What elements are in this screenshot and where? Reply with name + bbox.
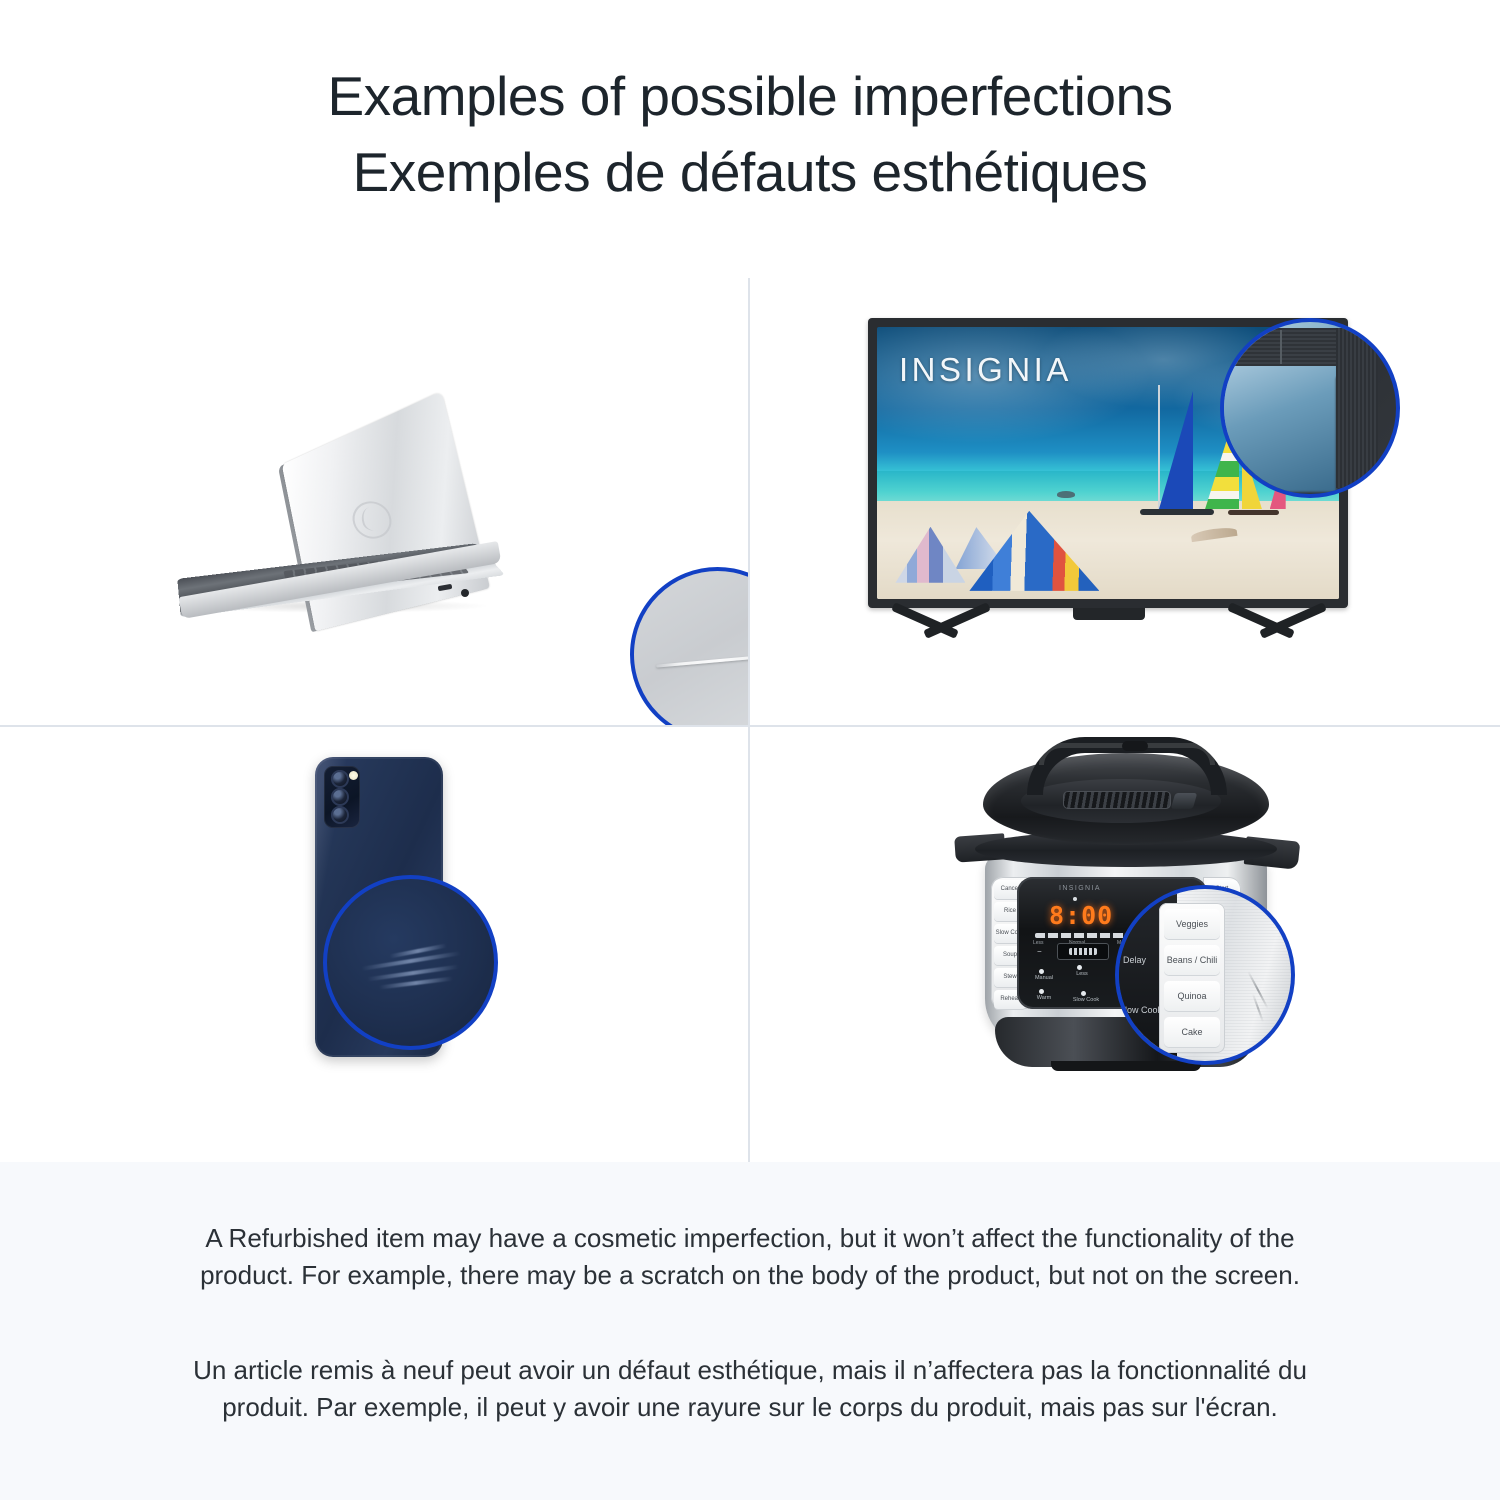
- camera-lens-icon-2: [331, 788, 349, 806]
- camera-lens-icon-3: [331, 806, 349, 824]
- cooker-magnified-button-beans-chili[interactable]: Beans / Chili: [1164, 945, 1220, 975]
- phone-scratch-mark-3: [379, 977, 453, 990]
- cooker-feet: [1051, 1061, 1201, 1071]
- cooker-led-slowcook: [1081, 991, 1086, 996]
- camera-flash-icon: [349, 771, 358, 780]
- cooker-control-slow-cook[interactable]: Slow Cook: [1071, 997, 1101, 1003]
- refurbished-imperfections-infographic: Examples of possible imperfections Exemp…: [0, 0, 1500, 1500]
- tv-center-badge: [1073, 608, 1145, 620]
- tv-magnified-screen-area: [1220, 364, 1336, 492]
- cooker-magnified-button-veggies[interactable]: Veggies: [1164, 909, 1220, 939]
- laptop-scratch-mark: [656, 653, 748, 667]
- example-cell-laptop: [0, 278, 748, 725]
- cooker-label-less: Less: [1033, 940, 1044, 946]
- cooker-led-warm2: [1039, 989, 1044, 994]
- camera-lens-icon-1: [331, 770, 349, 788]
- title-line-english: Examples of possible imperfections: [0, 58, 1500, 134]
- cooker-magnified-button-quinoa[interactable]: Quinoa: [1164, 981, 1220, 1011]
- cooker-magnified-button-cake[interactable]: Cake: [1164, 1017, 1220, 1047]
- circle-magnifier-phone: [323, 875, 498, 1050]
- cooker-control-warm[interactable]: Warm: [1029, 995, 1059, 1001]
- laptop-illustration: [170, 373, 550, 643]
- tv-scene-hull-left: [1140, 509, 1214, 515]
- cooker-magnified-label-slow-cook: Slow Cook: [1119, 1005, 1162, 1015]
- smartphone-illustration: [245, 747, 505, 1147]
- cooker-led-warm: [1077, 965, 1082, 970]
- footer-disclaimer: A Refurbished item may have a cosmetic i…: [0, 1162, 1500, 1500]
- circle-magnifier-cooker: Delay Slow Cook Veggies Beans / Chili Qu…: [1115, 885, 1295, 1065]
- examples-grid: INSIGNIA: [0, 278, 1500, 1162]
- disclaimer-paragraph-french: Un article remis à neuf peut avoir un dé…: [180, 1352, 1320, 1426]
- tv-scene-blue-sail: [1154, 391, 1193, 509]
- television-illustration: INSIGNIA: [868, 318, 1368, 678]
- cooker-brand-label: INSIGNIA: [1059, 885, 1101, 892]
- cooker-selection-window: [1057, 943, 1109, 960]
- phone-camera-module: [324, 766, 360, 828]
- title-line-french: Exemples de défauts esthétiques: [0, 134, 1500, 210]
- example-cell-smartphone: [0, 727, 748, 1162]
- laptop-round-port-icon: [461, 589, 469, 597]
- tv-scene-beach: [877, 501, 1339, 599]
- cooker-pressure-valve-icon: [1171, 793, 1198, 809]
- cooker-time-display: 8:00: [1049, 903, 1123, 929]
- cooker-magnified-button-column: Veggies Beans / Chili Quinoa Cake: [1159, 903, 1225, 1053]
- cooker-magnified-label-delay: Delay: [1123, 955, 1146, 965]
- circle-magnifier-laptop: [630, 567, 748, 725]
- tv-magnified-side-bezel: [1336, 328, 1378, 488]
- tv-bezel-seam-mark: [1280, 330, 1282, 364]
- example-cell-television: INSIGNIA: [750, 278, 1500, 725]
- disclaimer-paragraph-english: A Refurbished item may have a cosmetic i…: [180, 1220, 1320, 1294]
- cooker-decrease-button[interactable]: −: [1037, 947, 1042, 956]
- pressure-cooker-illustration: Cancel Rice Slow Cook Soup Stew Reheat S…: [955, 735, 1315, 1135]
- cooker-led-manual: [1039, 969, 1044, 974]
- page-title: Examples of possible imperfections Exemp…: [0, 58, 1500, 210]
- circle-magnifier-tv: [1220, 318, 1400, 498]
- tv-screen-brand-logo: INSIGNIA: [899, 351, 1072, 389]
- cooker-control-less[interactable]: Less: [1067, 971, 1097, 977]
- tv-scene-distant-boat: [1057, 491, 1075, 498]
- tv-scene-hull-right: [1228, 510, 1279, 515]
- cooker-control-manual[interactable]: Manual: [1029, 975, 1059, 981]
- example-cell-pressure-cooker: Cancel Rice Slow Cook Soup Stew Reheat S…: [750, 727, 1500, 1162]
- cooker-handle-knob: [1122, 741, 1148, 751]
